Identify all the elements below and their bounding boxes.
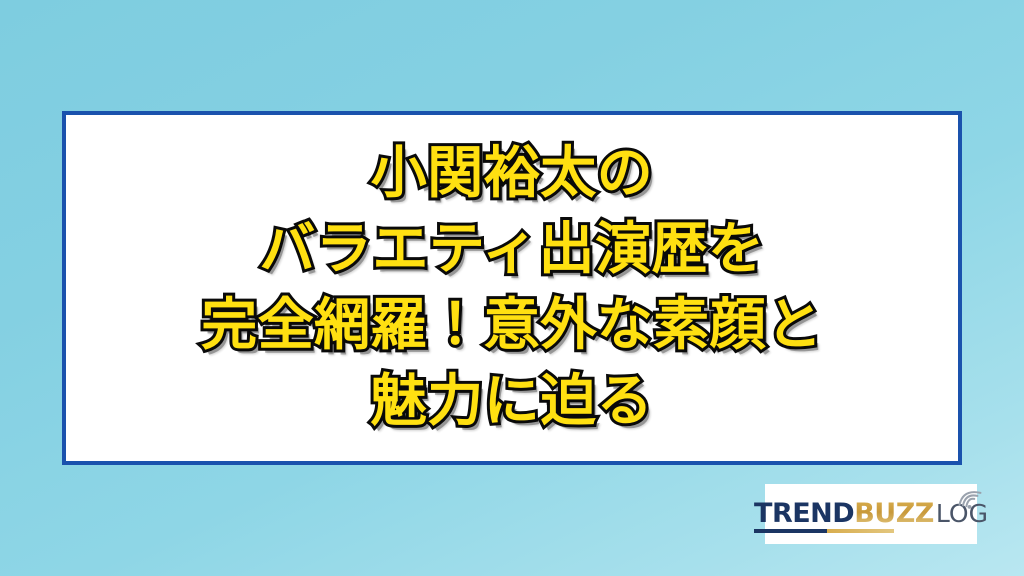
- thumbnail-canvas: 小関裕太の バラエティ出演歴を 完全網羅！意外な素顔と 魅力に迫る TREND …: [0, 0, 1024, 576]
- brand-underline-rule: [754, 529, 894, 533]
- headline-line-2: バラエティ出演歴を: [259, 212, 764, 288]
- headline-line-3: 完全網羅！意外な素顔と: [201, 288, 823, 364]
- headline-line-1: 小関裕太の: [371, 136, 654, 212]
- wifi-signal-icon: [956, 485, 986, 512]
- headline-text-block: 小関裕太の バラエティ出演歴を 完全網羅！意外な素顔と 魅力に迫る: [76, 136, 948, 441]
- brand-wordmark: TREND BUZZ LOG: [754, 500, 988, 527]
- brand-logo-inner: TREND BUZZ LOG: [754, 496, 988, 533]
- headline-line-4: 魅力に迫る: [371, 364, 654, 440]
- brand-word-trend: TREND: [754, 500, 854, 527]
- headline-panel: 小関裕太の バラエティ出演歴を 完全網羅！意外な素顔と 魅力に迫る: [62, 111, 962, 465]
- brand-logo: TREND BUZZ LOG: [765, 484, 977, 544]
- brand-word-buzz: BUZZ: [854, 500, 934, 527]
